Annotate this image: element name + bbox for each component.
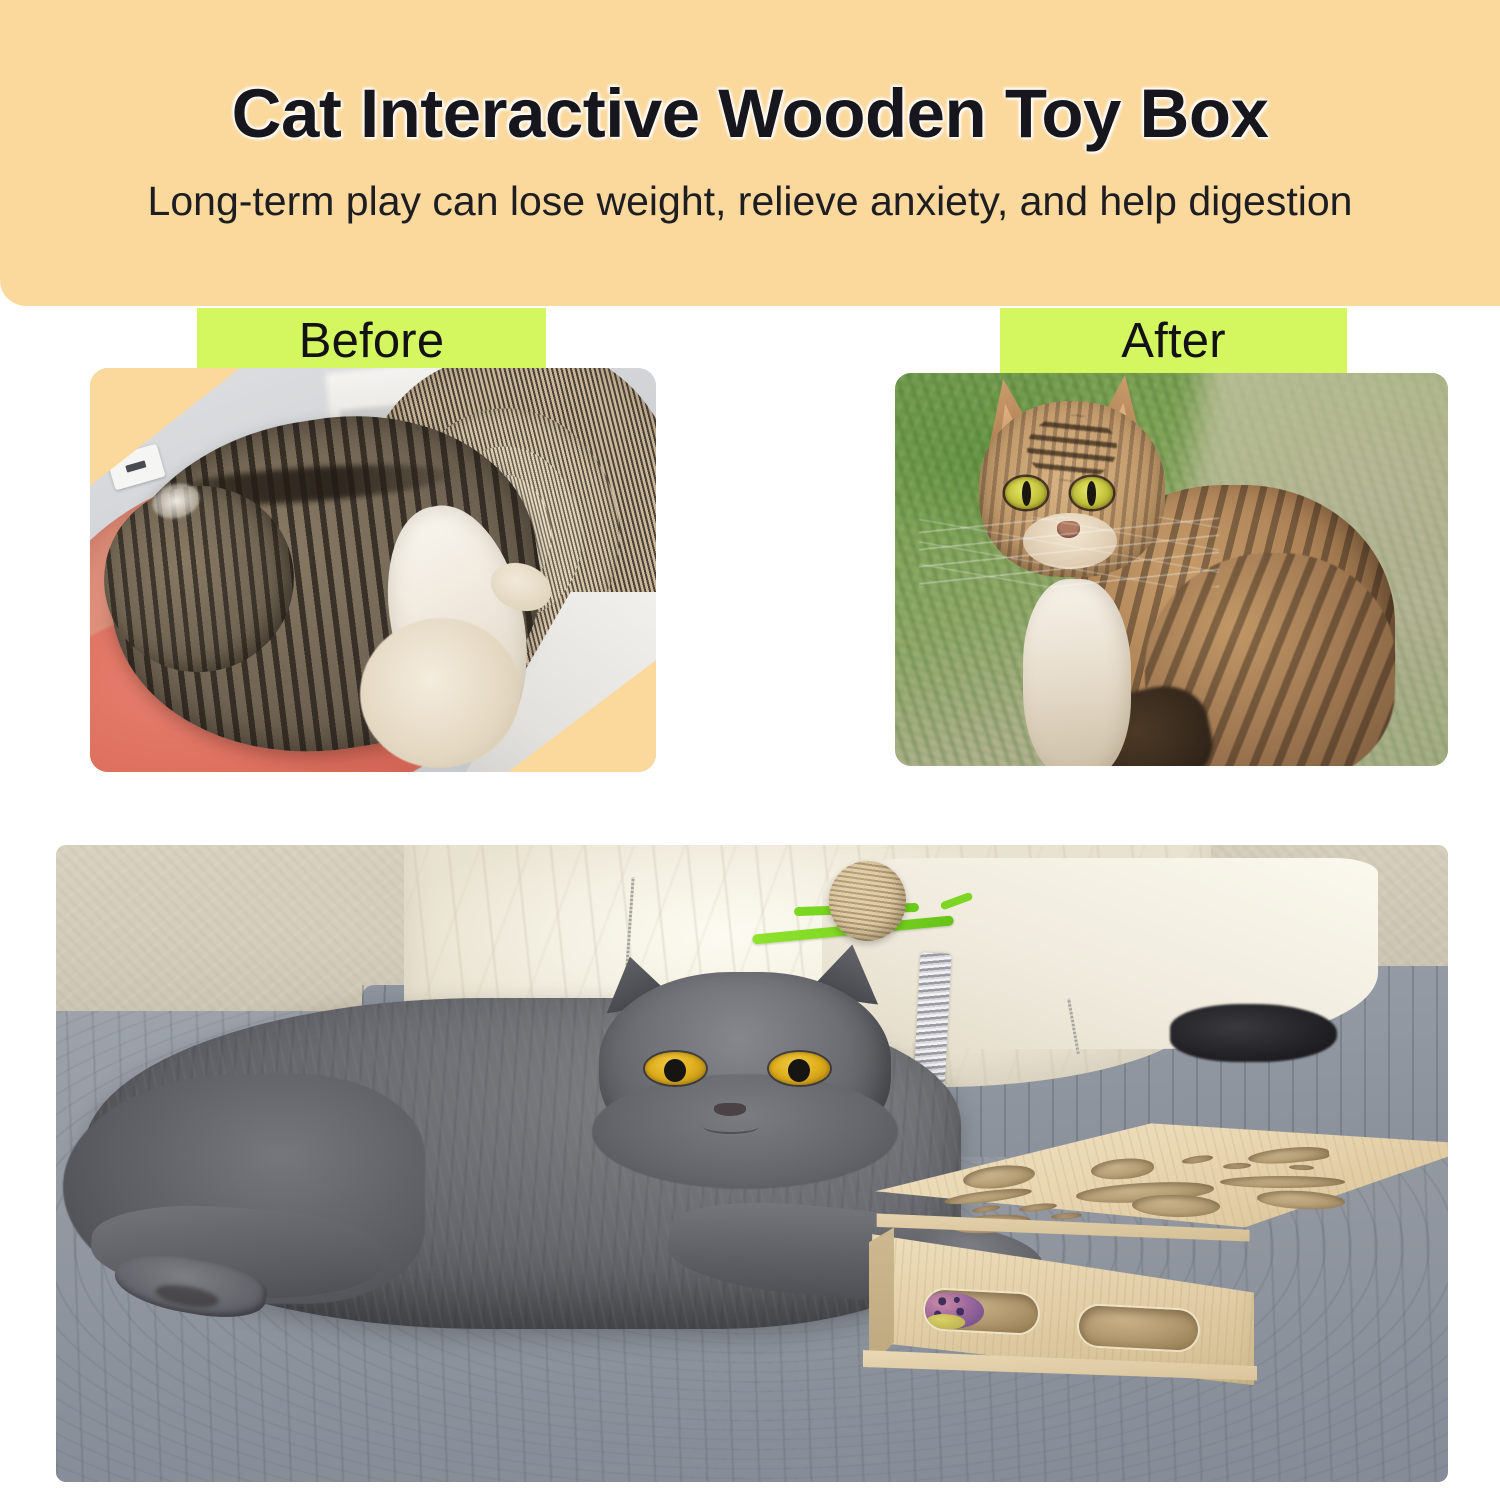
label-after: After bbox=[1000, 308, 1347, 374]
label-before: Before bbox=[197, 308, 546, 374]
page-title: Cat Interactive Wooden Toy Box bbox=[0, 74, 1500, 153]
toy-box-cutout bbox=[1220, 1176, 1345, 1188]
toy-box-cutout bbox=[1050, 1212, 1082, 1220]
hero-scene bbox=[56, 845, 1448, 1482]
slim-cat-pupil-left bbox=[1022, 481, 1031, 506]
gray-cat-pupil-left bbox=[664, 1059, 686, 1082]
header-banner: Cat Interactive Wooden Toy Box Long-term… bbox=[0, 0, 1500, 306]
photo-hero-product bbox=[56, 845, 1448, 1482]
sisal-ball bbox=[829, 861, 907, 941]
gray-cat-nose bbox=[714, 1103, 746, 1116]
slim-cat-nose bbox=[1057, 521, 1080, 538]
toy-box-side-opening-right bbox=[1078, 1305, 1199, 1351]
gray-cat-pupil-right bbox=[788, 1059, 810, 1082]
toy-box-cutout bbox=[972, 1204, 1001, 1214]
gray-cat-mouth bbox=[703, 1119, 759, 1134]
slim-cat-pupil-right bbox=[1087, 481, 1096, 506]
photo-after bbox=[895, 373, 1448, 766]
wooden-toy-box bbox=[856, 1119, 1448, 1469]
toy-box-side-opening-left bbox=[924, 1289, 1039, 1333]
corner-accent-bottom-right bbox=[508, 660, 656, 772]
slim-cat-forehead-stripes bbox=[1027, 415, 1117, 481]
slim-cat-chest bbox=[1023, 579, 1131, 766]
photo-before bbox=[90, 368, 656, 772]
page-subtitle: Long-term play can lose weight, relieve … bbox=[0, 178, 1500, 225]
black-fabric bbox=[1170, 1004, 1337, 1061]
after-scene bbox=[895, 373, 1448, 766]
corner-accent-top-left bbox=[90, 368, 240, 486]
